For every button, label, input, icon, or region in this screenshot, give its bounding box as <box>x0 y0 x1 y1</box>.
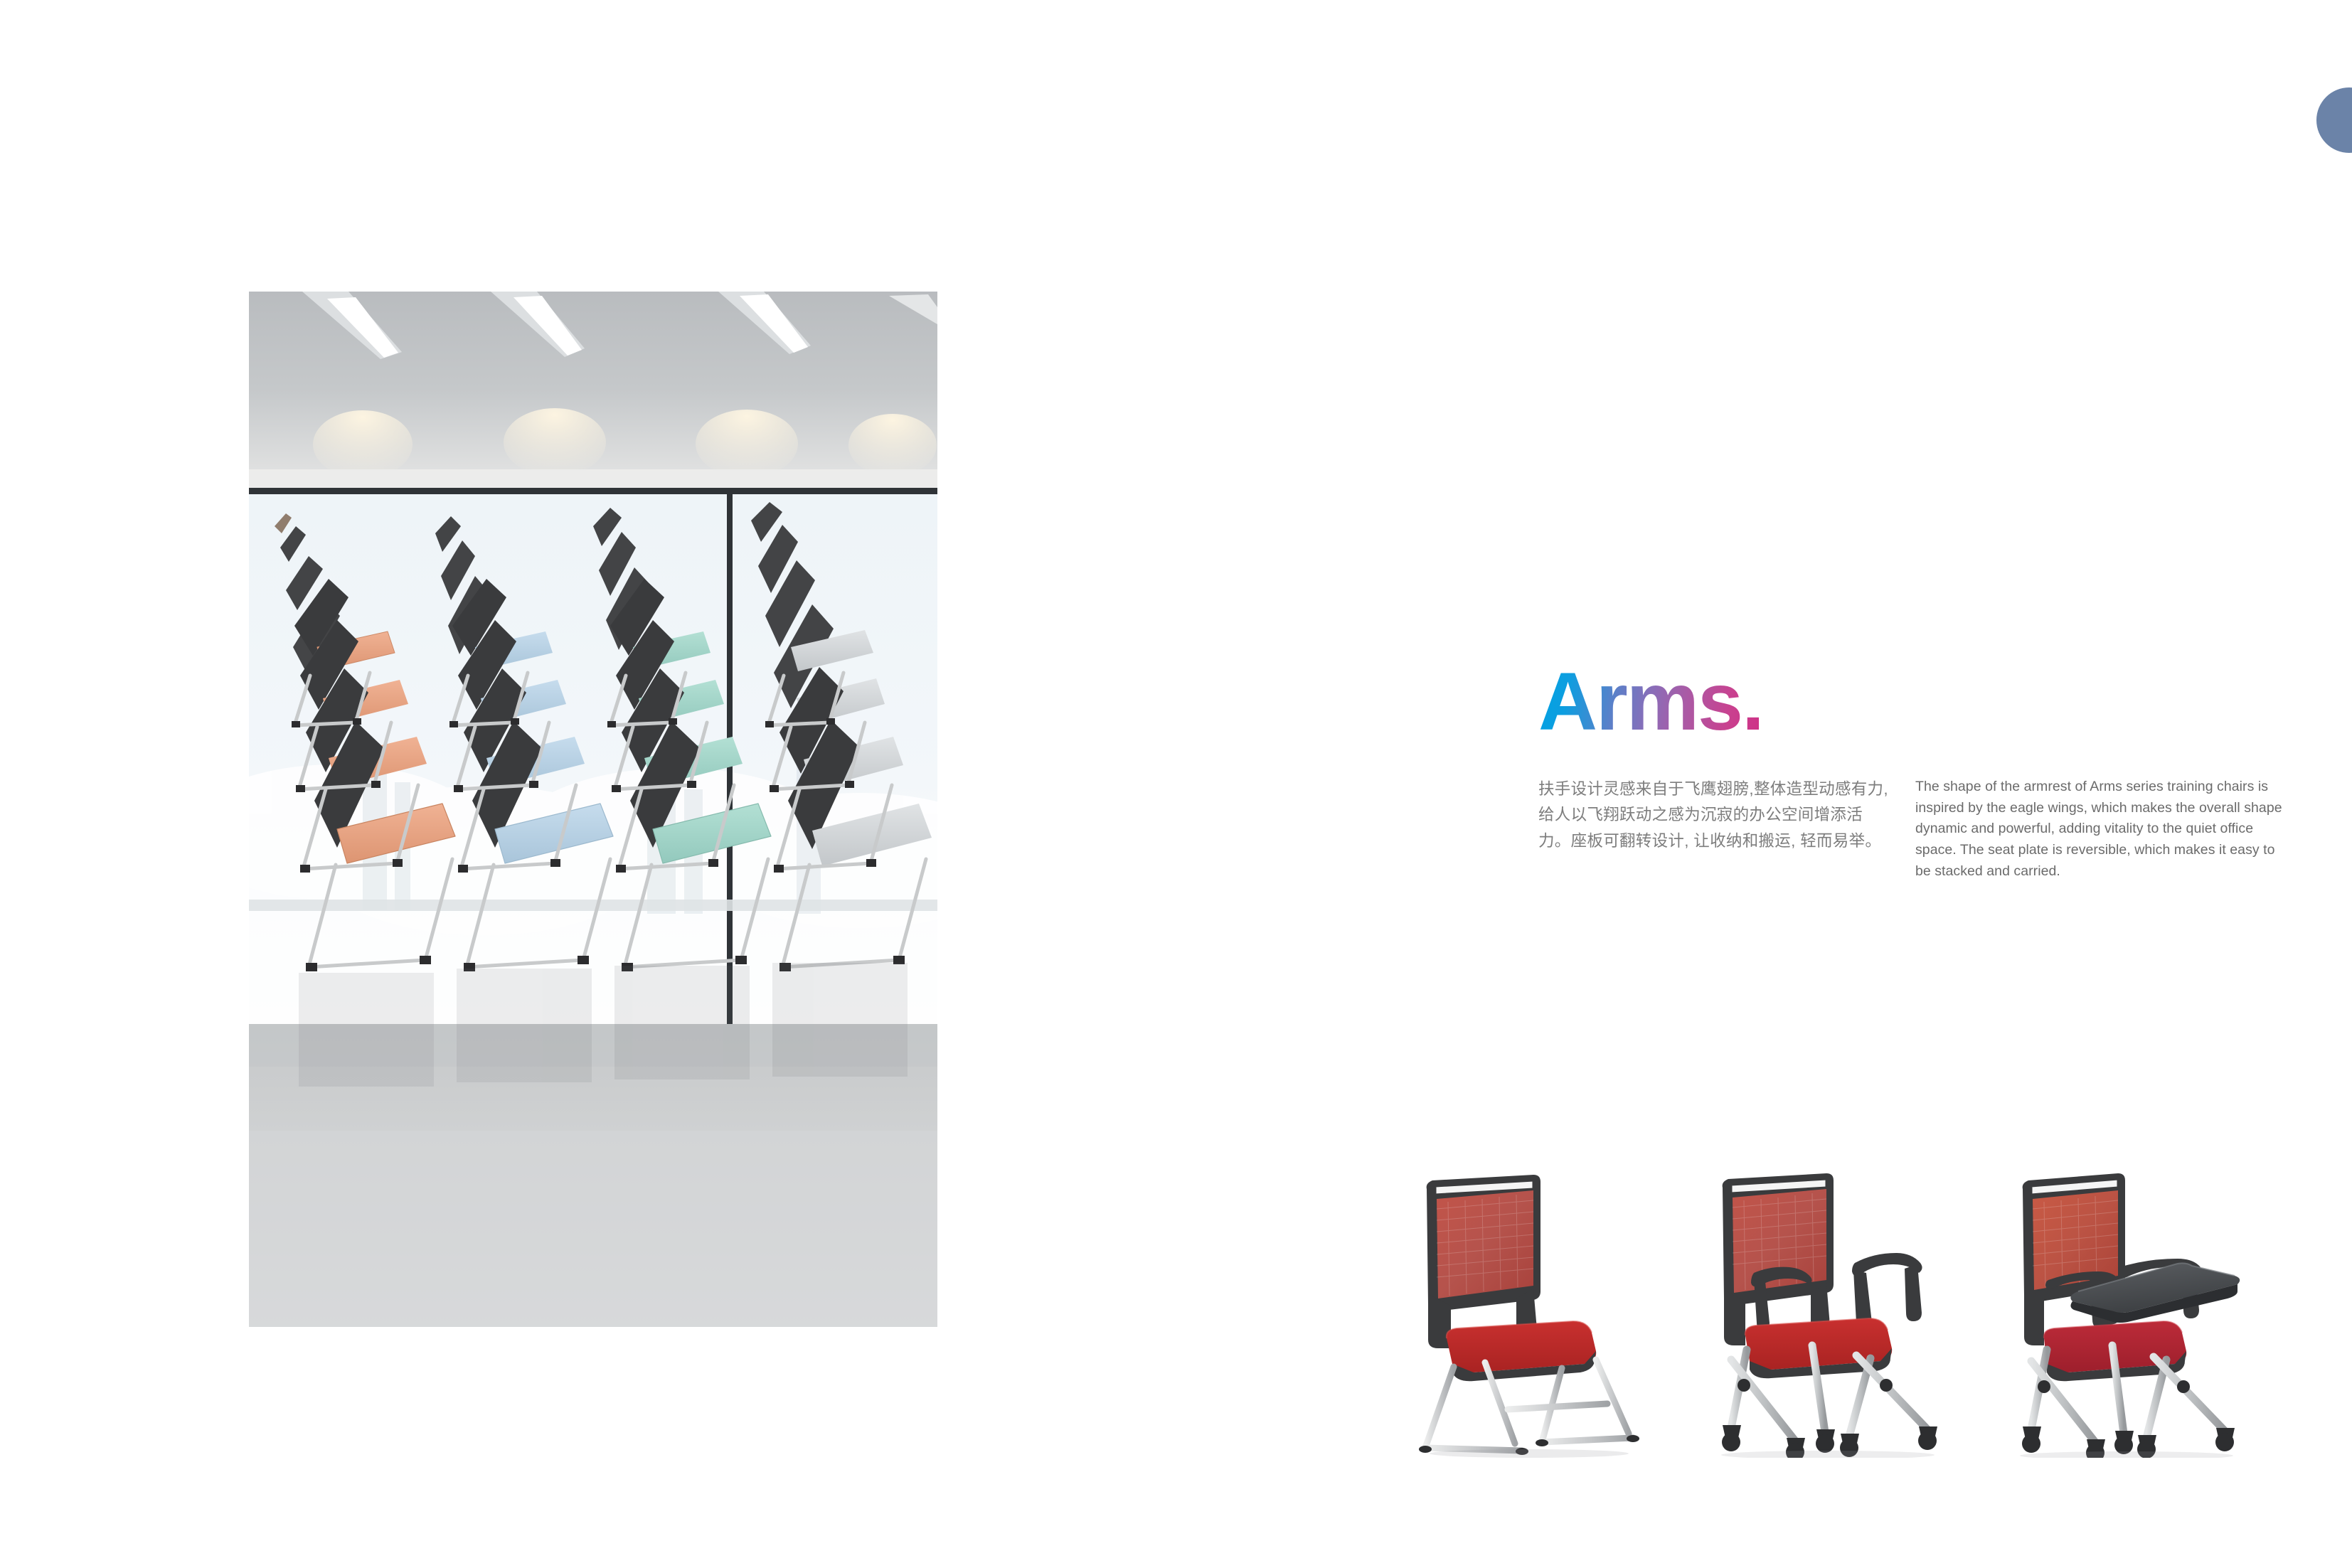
description-chinese: 扶手设计灵感来自于飞鹰翅膀,整体造型动感有力, 给人以飞翔跃动之感为沉寂的办公空… <box>1538 777 1894 854</box>
copy-block: 扶手设计灵感来自于飞鹰翅膀,整体造型动感有力, 给人以飞翔跃动之感为沉寂的办公空… <box>1538 777 2299 882</box>
corner-accent-circle <box>2316 87 2352 153</box>
hero-photo <box>249 292 937 1327</box>
headline-block: Arms. <box>1538 661 2292 743</box>
product-armrest-folding-caster-chair[interactable] <box>1686 1159 1977 1458</box>
product-variants-row <box>1394 1159 2269 1458</box>
description-english: The shape of the armrest of Arms series … <box>1915 777 2292 882</box>
product-writing-tablet-folding-caster-chair[interactable] <box>1977 1159 2269 1458</box>
description-chinese-text: 扶手设计灵感来自于飞鹰翅膀,整体造型动感有力, 给人以飞翔跃动之感为沉寂的办公空… <box>1538 777 1894 854</box>
catalog-page: Arms. 扶手设计灵感来自于飞鹰翅膀,整体造型动感有力, 给人以飞翔跃动之感为… <box>0 0 2352 1568</box>
page-title: Arms. <box>1538 661 1763 743</box>
product-armless-sled-base-chair[interactable] <box>1394 1159 1686 1458</box>
description-english-text: The shape of the armrest of Arms series … <box>1915 777 2292 882</box>
